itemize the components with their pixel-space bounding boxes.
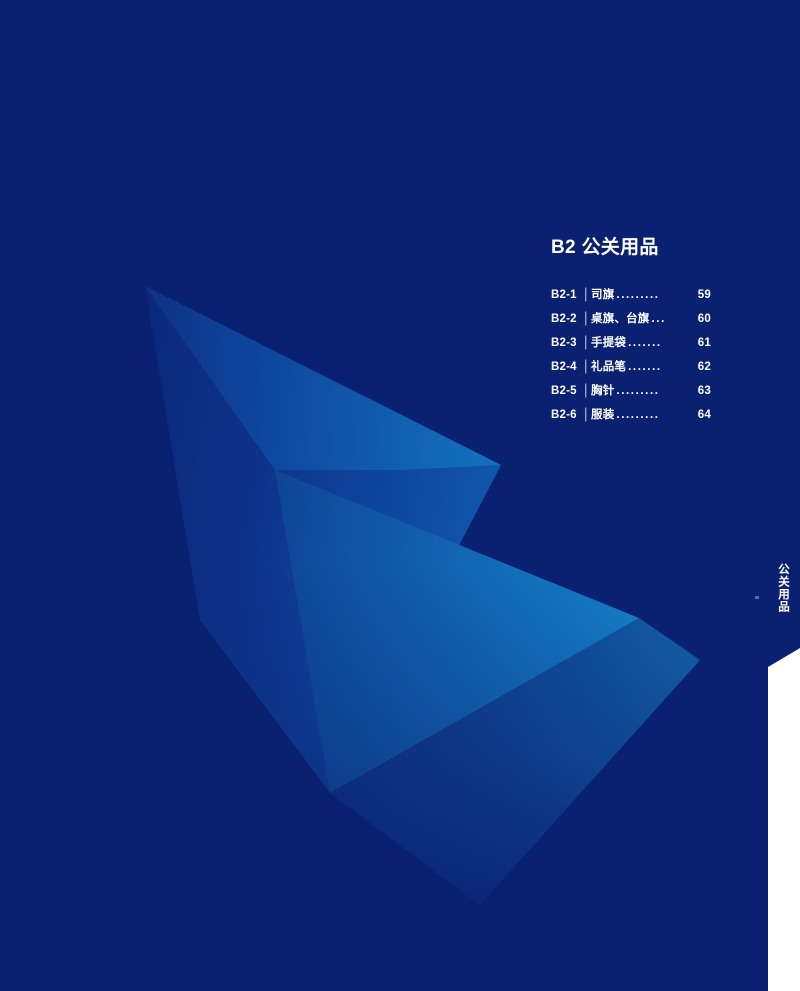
toc-separator: │: [582, 313, 591, 325]
toc-entry-code: B2-5: [551, 385, 582, 397]
toc-entry-page: 59: [698, 289, 711, 301]
tab-marker-dot: [755, 596, 759, 599]
toc-entry-label: 服装: [591, 406, 614, 422]
toc-entry-code: B2-1: [551, 289, 582, 301]
toc-dot-leader: .......: [628, 361, 697, 373]
toc-dot-leader: .........: [616, 409, 696, 421]
toc-entry-label: 手提袋: [591, 334, 626, 350]
toc-entry-label: 胸针: [591, 382, 614, 398]
page-root: B2 公关用品 B2-1 │ 司旗 ......... 59 B2-2 │ 桌旗…: [0, 0, 800, 991]
table-of-contents: B2 公关用品 B2-1 │ 司旗 ......... 59 B2-2 │ 桌旗…: [551, 237, 711, 430]
cover-canvas: B2 公关用品 B2-1 │ 司旗 ......... 59 B2-2 │ 桌旗…: [0, 0, 800, 991]
toc-dot-leader: .........: [616, 289, 696, 301]
toc-entry-code: B2-3: [551, 337, 582, 349]
toc-entry-code: B2-4: [551, 361, 582, 373]
toc-entry-label: 司旗: [591, 286, 614, 302]
toc-separator: │: [582, 385, 591, 397]
toc-entry-b2-1[interactable]: B2-1 │ 司旗 ......... 59: [551, 286, 711, 310]
toc-entry-b2-3[interactable]: B2-3 │ 手提袋 ....... 61: [551, 334, 711, 358]
toc-entry-code: B2-6: [551, 409, 582, 421]
bottom-fade-overlay: [0, 560, 800, 991]
toc-entry-b2-4[interactable]: B2-4 │ 礼品笔 ....... 62: [551, 358, 711, 382]
toc-dot-leader: .........: [616, 385, 696, 397]
toc-entry-page: 64: [698, 409, 711, 421]
toc-entry-b2-6[interactable]: B2-6 │ 服装 ......... 64: [551, 406, 711, 430]
toc-entry-code: B2-2: [551, 313, 582, 325]
toc-entry-b2-2[interactable]: B2-2 │ 桌旗、台旗 ... 60: [551, 310, 711, 334]
toc-entry-page: 62: [698, 361, 711, 373]
toc-separator: │: [582, 409, 591, 421]
toc-entry-label: 礼品笔: [591, 358, 626, 374]
toc-separator: │: [582, 361, 591, 373]
toc-dot-leader: .......: [628, 337, 697, 349]
toc-entry-b2-5[interactable]: B2-5 │ 胸针 ......... 63: [551, 382, 711, 406]
toc-entry-page: 61: [698, 337, 711, 349]
toc-dot-leader: ...: [652, 313, 697, 325]
toc-separator: │: [582, 289, 591, 301]
section-title: B2 公关用品: [551, 237, 711, 260]
toc-separator: │: [582, 337, 591, 349]
side-tab-label: 公关用品: [769, 563, 791, 645]
toc-entry-page: 63: [698, 385, 711, 397]
toc-list: B2-1 │ 司旗 ......... 59 B2-2 │ 桌旗、台旗 ... …: [551, 286, 711, 430]
toc-entry-label: 桌旗、台旗: [591, 310, 650, 326]
toc-entry-page: 60: [698, 313, 711, 325]
